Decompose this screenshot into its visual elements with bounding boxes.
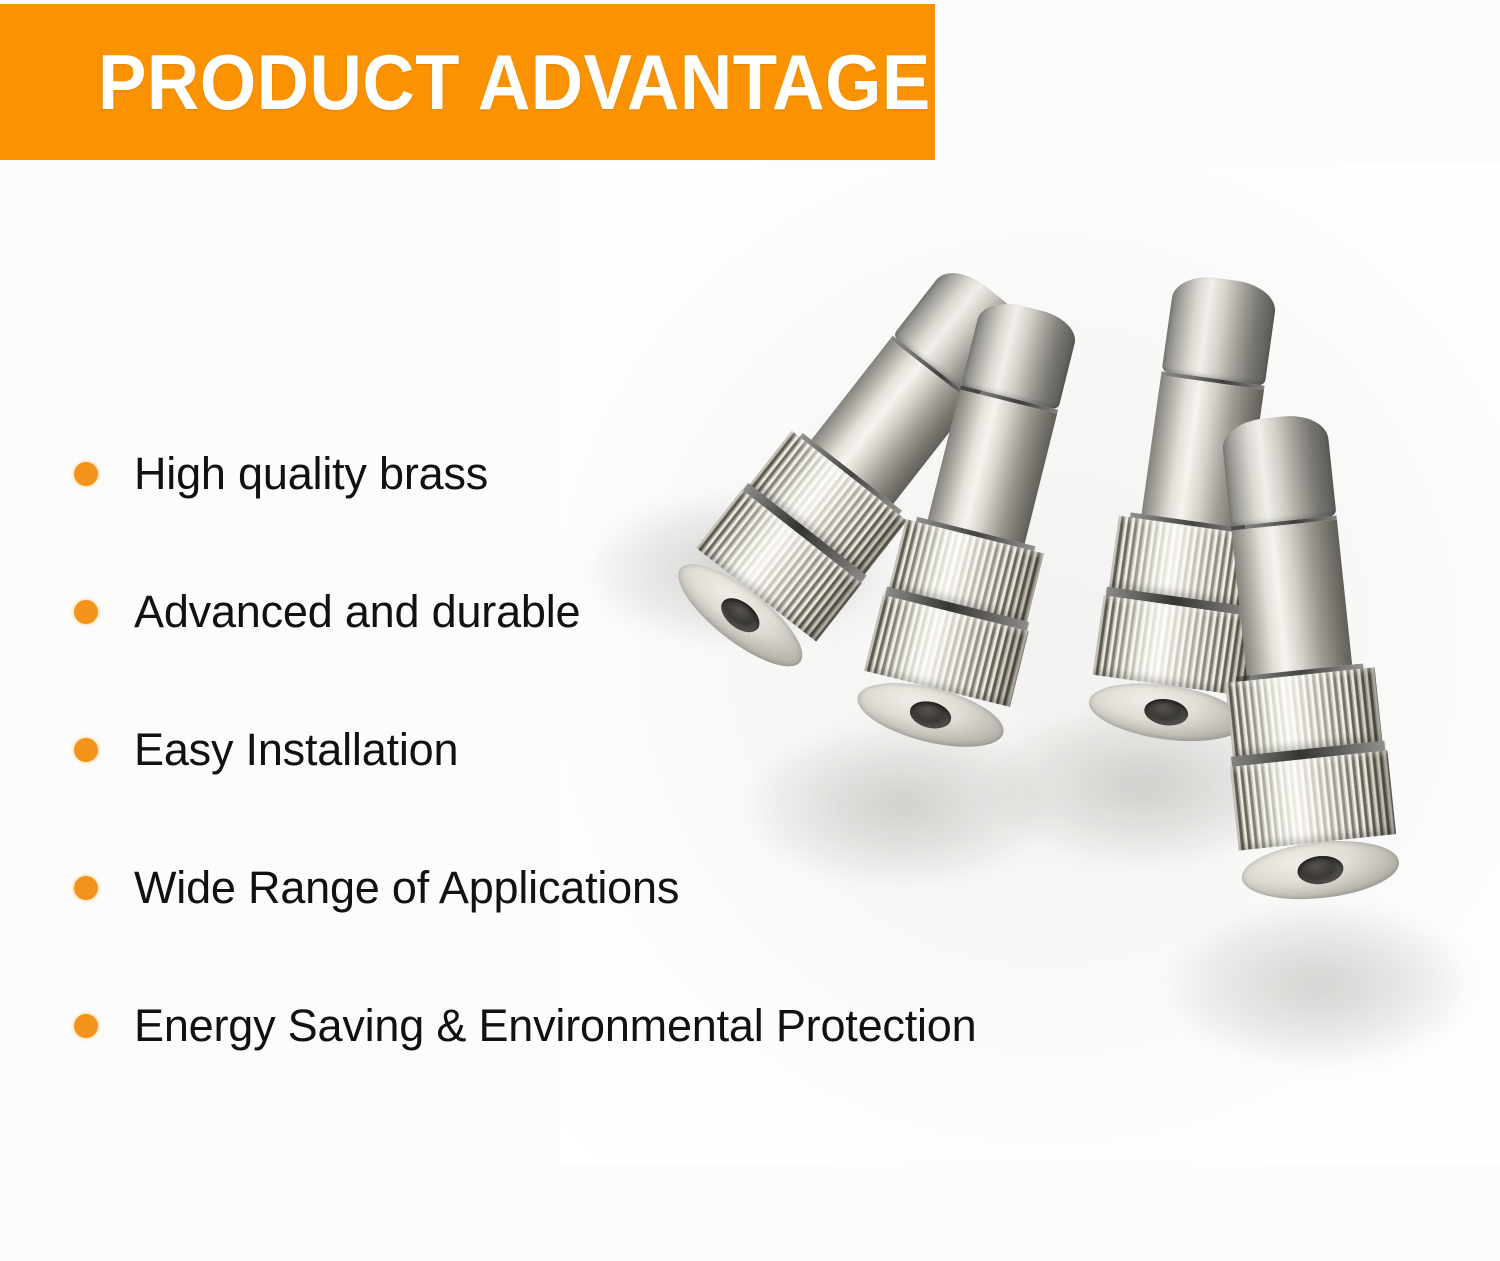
bullet-dot-icon bbox=[74, 600, 98, 624]
nozzle-orifice bbox=[1143, 696, 1190, 728]
advantage-label: High quality brass bbox=[134, 448, 488, 500]
nozzle-shank bbox=[1231, 519, 1352, 675]
photo-shadow bbox=[1170, 905, 1470, 1065]
page-title: PRODUCT ADVANTAGE bbox=[98, 43, 931, 121]
advantage-label: Advanced and durable bbox=[134, 586, 580, 638]
list-item: High quality brass bbox=[0, 405, 1050, 543]
bullet-dot-icon bbox=[74, 1014, 98, 1038]
advantage-label: Easy Installation bbox=[134, 724, 458, 776]
nozzle-orifice bbox=[1296, 854, 1345, 887]
advantage-label: Wide Range of Applications bbox=[134, 862, 679, 914]
nozzle-knurl-lower bbox=[1230, 750, 1396, 850]
nozzle-tip bbox=[1162, 272, 1279, 386]
list-item: Advanced and durable bbox=[0, 543, 1050, 681]
list-item: Energy Saving & Environmental Protection bbox=[0, 957, 1050, 1095]
list-item: Easy Installation bbox=[0, 681, 1050, 819]
nozzle-tip bbox=[1220, 412, 1336, 527]
header-banner: PRODUCT ADVANTAGE bbox=[0, 4, 935, 160]
bullet-dot-icon bbox=[74, 462, 98, 486]
bullet-dot-icon bbox=[74, 738, 98, 762]
list-item: Wide Range of Applications bbox=[0, 819, 1050, 957]
advantages-list: High quality brass Advanced and durable … bbox=[0, 405, 1050, 1095]
advantage-label: Energy Saving & Environmental Protection bbox=[134, 1000, 976, 1052]
product-advantage-infographic: PRODUCT ADVANTAGE bbox=[0, 0, 1500, 1261]
bullet-dot-icon bbox=[74, 876, 98, 900]
